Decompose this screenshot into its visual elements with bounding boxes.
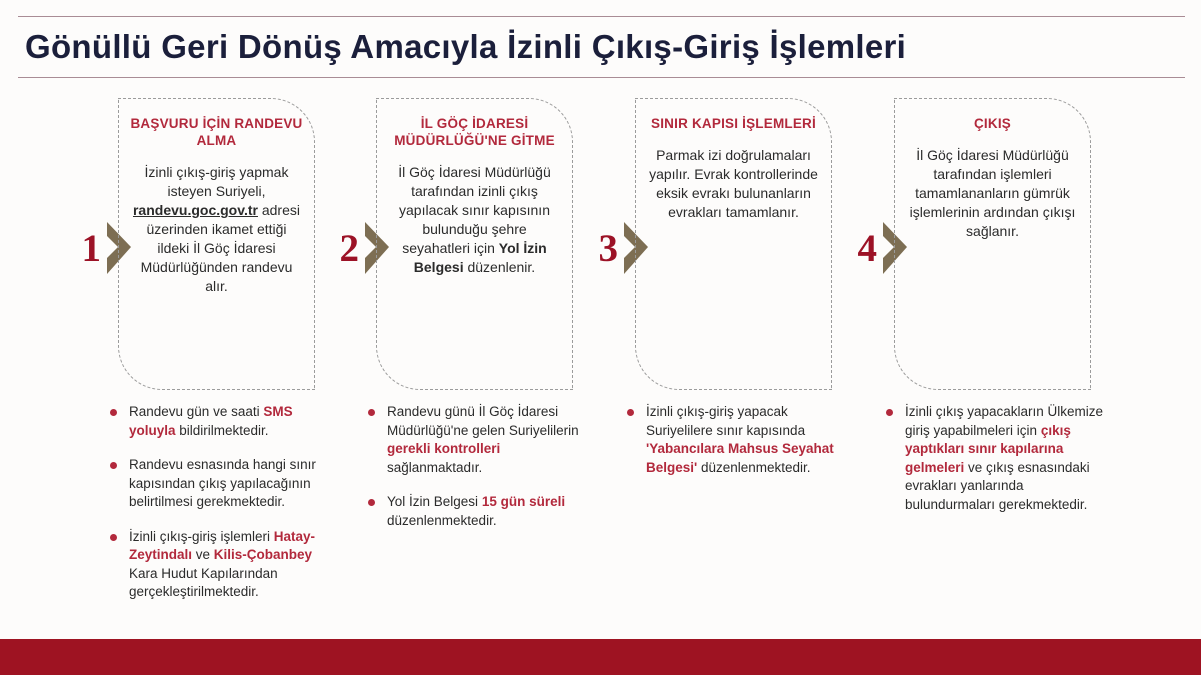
- step-bullets-2: Randevu günü İl Göç İdaresi Müdürlüğü'ne…: [368, 403, 588, 546]
- step-number-1: 1: [75, 229, 101, 268]
- page-title: Gönüllü Geri Dönüş Amacıyla İzinli Çıkış…: [25, 21, 906, 73]
- step-card-3: SINIR KAPISI İŞLEMLERİ Parmak izi doğrul…: [635, 98, 832, 390]
- list-item-text: İzinli çıkış-giriş yapacak Suriyelilere …: [646, 404, 834, 475]
- list-item-text: Yol İzin Belgesi 15 gün süreli düzenlenm…: [387, 494, 565, 528]
- step-body-1: İzinli çıkış-giriş yapmak isteyen Suriye…: [130, 163, 303, 296]
- bullet-dot-icon: [368, 499, 375, 506]
- list-item-text: İzinli çıkış-giriş işlemleri Hatay-Zeyti…: [129, 529, 315, 600]
- list-item: İzinli çıkış-giriş yapacak Suriyelilere …: [627, 403, 847, 477]
- list-item: İzinli çıkış-giriş işlemleri Hatay-Zeyti…: [110, 528, 330, 602]
- bullet-dot-icon: [886, 409, 893, 416]
- list-item: Randevu gün ve saati SMS yoluyla bildiri…: [110, 403, 330, 440]
- flow-step-2: 2 İL GÖÇ İDARESİ MÜDÜRLÜĞÜ'NE GİTME İl G…: [333, 96, 593, 636]
- step-heading-1: BAŞVURU İÇİN RANDEVU ALMA: [130, 115, 303, 149]
- step-card-4: ÇIKIŞ İl Göç İdaresi Müdürlüğü tarafında…: [894, 98, 1091, 390]
- list-item: İzinli çıkış yapacakların Ülkemize giriş…: [886, 403, 1106, 514]
- step-heading-3: SINIR KAPISI İŞLEMLERİ: [647, 115, 820, 132]
- step-bullets-4: İzinli çıkış yapacakların Ülkemize giriş…: [886, 403, 1106, 530]
- title-block: Gönüllü Geri Dönüş Amacıyla İzinli Çıkış…: [18, 16, 1185, 78]
- step-card-2: İL GÖÇ İDARESİ MÜDÜRLÜĞÜ'NE GİTME İl Göç…: [376, 98, 573, 390]
- list-item-text: İzinli çıkış yapacakların Ülkemize giriş…: [905, 404, 1103, 512]
- step-body-2: İl Göç İdaresi Müdürlüğü tarafından izin…: [388, 163, 561, 277]
- step-heading-4: ÇIKIŞ: [906, 115, 1079, 132]
- step-number-2: 2: [333, 229, 359, 268]
- bottom-accent-bar: [0, 639, 1201, 675]
- step-bullets-1: Randevu gün ve saati SMS yoluyla bildiri…: [110, 403, 330, 618]
- bullet-dot-icon: [627, 409, 634, 416]
- list-item: Randevu esnasında hangi sınır kapısından…: [110, 456, 330, 512]
- bullet-dot-icon: [110, 409, 117, 416]
- bullet-dot-icon: [368, 409, 375, 416]
- step-body-3: Parmak izi doğrulamaları yapılır. Evrak …: [647, 146, 820, 222]
- list-item: Yol İzin Belgesi 15 gün süreli düzenlenm…: [368, 493, 588, 530]
- flow-step-4: 4 ÇIKIŞ İl Göç İdaresi Müdürlüğü tarafın…: [851, 96, 1111, 636]
- flow-step-3: 3 SINIR KAPISI İŞLEMLERİ Parmak izi doğr…: [592, 96, 852, 636]
- process-flow: 1 BAŞVURU İÇİN RANDEVU ALMA İzinli çıkış…: [0, 96, 1201, 636]
- step-body-4: İl Göç İdaresi Müdürlüğü tarafından işle…: [906, 146, 1079, 241]
- step-number-3: 3: [592, 229, 618, 268]
- step-heading-2: İL GÖÇ İDARESİ MÜDÜRLÜĞÜ'NE GİTME: [388, 115, 561, 149]
- bullet-dot-icon: [110, 462, 117, 469]
- flow-step-1: 1 BAŞVURU İÇİN RANDEVU ALMA İzinli çıkış…: [75, 96, 335, 636]
- step-number-4: 4: [851, 229, 877, 268]
- list-item: Randevu günü İl Göç İdaresi Müdürlüğü'ne…: [368, 403, 588, 477]
- list-item-text: Randevu günü İl Göç İdaresi Müdürlüğü'ne…: [387, 404, 579, 475]
- bullet-dot-icon: [110, 534, 117, 541]
- step-card-1: BAŞVURU İÇİN RANDEVU ALMA İzinli çıkış-g…: [118, 98, 315, 390]
- step-bullets-3: İzinli çıkış-giriş yapacak Suriyelilere …: [627, 403, 847, 493]
- list-item-text: Randevu gün ve saati SMS yoluyla bildiri…: [129, 404, 293, 438]
- list-item-text: Randevu esnasında hangi sınır kapısından…: [129, 457, 316, 509]
